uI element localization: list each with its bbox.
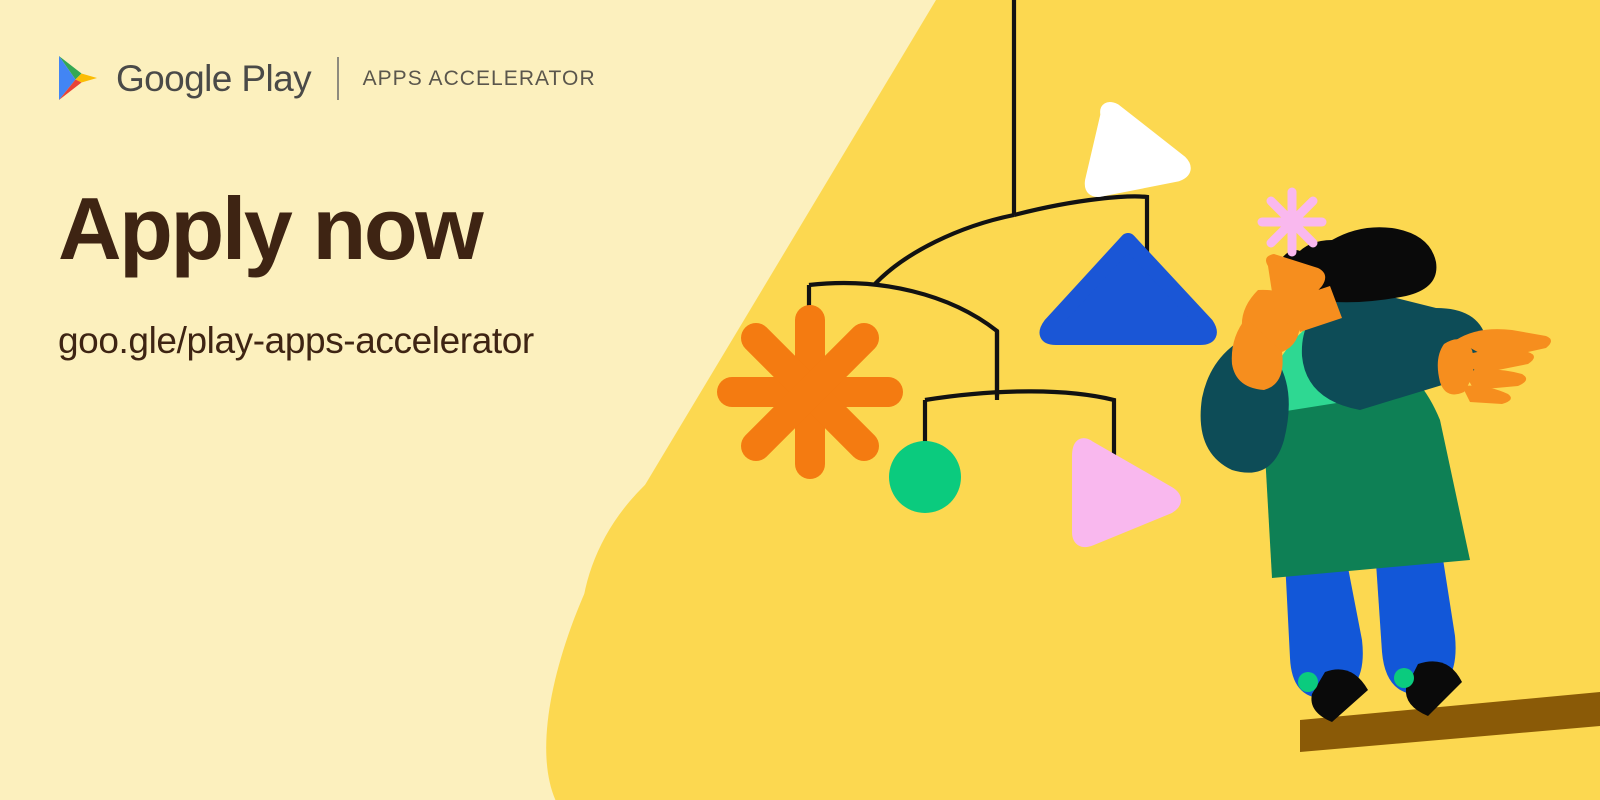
orange-asterisk: [732, 320, 888, 464]
shoe-dot-front: [1394, 668, 1414, 688]
green-circle: [889, 441, 961, 513]
shoe-dot-back: [1298, 672, 1318, 692]
program-name: APPS ACCELERATOR: [363, 68, 596, 89]
google-play-triangle-icon: [56, 54, 100, 102]
brand-divider: [337, 57, 339, 100]
pink-sparkle: [1262, 192, 1322, 252]
page-title: Apply now: [58, 183, 481, 275]
brand-name: Google Play: [116, 60, 311, 97]
illustration: [0, 0, 1600, 800]
poster-canvas: Google Play APPS ACCELERATOR Apply now g…: [0, 0, 1600, 800]
brand-lockup: Google Play APPS ACCELERATOR: [56, 52, 596, 104]
apply-url[interactable]: goo.gle/play-apps-accelerator: [58, 319, 534, 363]
